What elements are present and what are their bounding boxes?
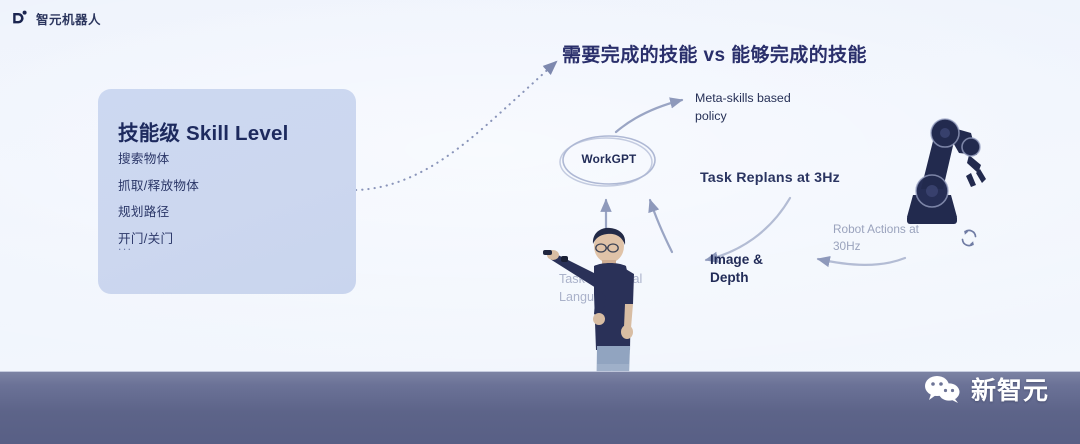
dotted-connector: [356, 62, 556, 190]
list-item: 规划路径: [118, 206, 199, 219]
robot-arm-icon: [885, 103, 997, 233]
list-ellipsis: ...: [118, 239, 133, 253]
wechat-icon: [923, 375, 963, 403]
label-workgpt-node: WorkGPT: [573, 152, 645, 166]
list-item: 搜索物体: [118, 153, 199, 166]
arrow-to-meta-skills: [616, 100, 682, 132]
list-item: 抓取/释放物体: [118, 180, 199, 193]
brand-logo: 智元机器人: [10, 9, 101, 28]
slide-headline: 需要完成的技能 vs 能够完成的技能: [562, 40, 867, 67]
label-meta-skills-policy: Meta-skills based policy: [695, 90, 791, 126]
card-title: 技能级 Skill Level: [118, 116, 288, 146]
stage-floor: [0, 372, 1080, 444]
zhiyuan-logo-icon: [10, 9, 29, 28]
brand-name: 智元机器人: [36, 9, 101, 28]
label-image-depth: Image & Depth: [710, 251, 763, 288]
skill-level-card: 技能级 Skill Level 搜索物体 抓取/释放物体 规划路径 开门/关门 …: [98, 89, 356, 294]
refresh-loop-icon: [957, 226, 981, 250]
arrow-robot-feedback: [818, 258, 905, 265]
watermark-text: 新智元: [971, 371, 1049, 407]
stage-scene: 智元机器人 技能级 Skill Level 搜索物体 抓取/释放物体 规划路径 …: [0, 0, 1080, 444]
channel-watermark: 新智元: [923, 371, 1049, 407]
label-task-replans: Task Replans at 3Hz: [700, 170, 840, 186]
